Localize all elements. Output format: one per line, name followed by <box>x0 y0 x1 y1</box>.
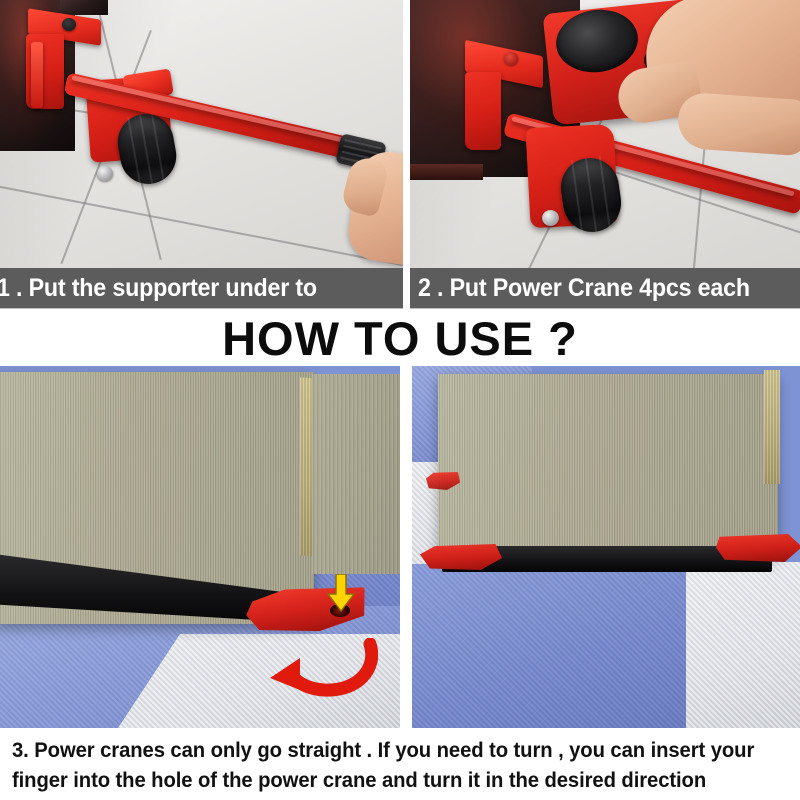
step-1-photo <box>0 0 403 268</box>
step-1-panel: 1 . Put the supporter under to <box>0 0 403 310</box>
user-finger-lower <box>676 92 800 157</box>
yellow-down-arrow-icon <box>326 574 356 612</box>
step-2-photo <box>410 0 800 268</box>
step-1-caption-bar: 1 . Put the supporter under to <box>0 268 403 308</box>
step-4-panel <box>412 366 800 728</box>
cabinet-side-edge-4 <box>764 370 780 484</box>
cabinet-side-panel-3 <box>312 374 400 574</box>
step-3-panel <box>0 366 400 728</box>
bottom-steps-row <box>0 366 800 728</box>
power-crane-right-4 <box>716 534 800 562</box>
axle-bolt-2 <box>542 210 559 226</box>
red-turn-arrow-icon <box>266 638 378 700</box>
axle-bolt <box>97 166 113 181</box>
lifter-bracket-lip-2 <box>465 72 501 150</box>
step-2-panel: 2 . Put Power Crane 4pcs each <box>410 0 800 310</box>
step-1-caption-text: 1 . Put the supporter under to <box>0 274 317 303</box>
lifter-bracket-face <box>31 42 43 108</box>
cabinet-body-4 <box>438 374 778 556</box>
step-3-description: 3. Power cranes can only go straight . I… <box>0 732 800 800</box>
bracket-bolt <box>62 18 76 31</box>
step-2-caption-bar: 2 . Put Power Crane 4pcs each <box>410 268 800 308</box>
bracket-bolt-2 <box>504 52 518 65</box>
top-steps-row: 1 . Put the supporter under to <box>0 0 800 310</box>
page-title: HOW TO USE ? <box>0 312 800 364</box>
furniture-dark-top-strip <box>60 0 108 15</box>
step-3-description-line-2: finger into the hole of the power crane … <box>12 766 763 796</box>
product-instruction-sheet: 1 . Put the supporter under to <box>0 0 800 800</box>
carpet-tile-white-4 <box>686 562 800 728</box>
step-3-description-line-1: 3. Power cranes can only go straight . I… <box>12 736 763 766</box>
furniture-dark-edge-2 <box>410 164 483 180</box>
step-2-caption-text: 2 . Put Power Crane 4pcs each <box>418 274 750 303</box>
